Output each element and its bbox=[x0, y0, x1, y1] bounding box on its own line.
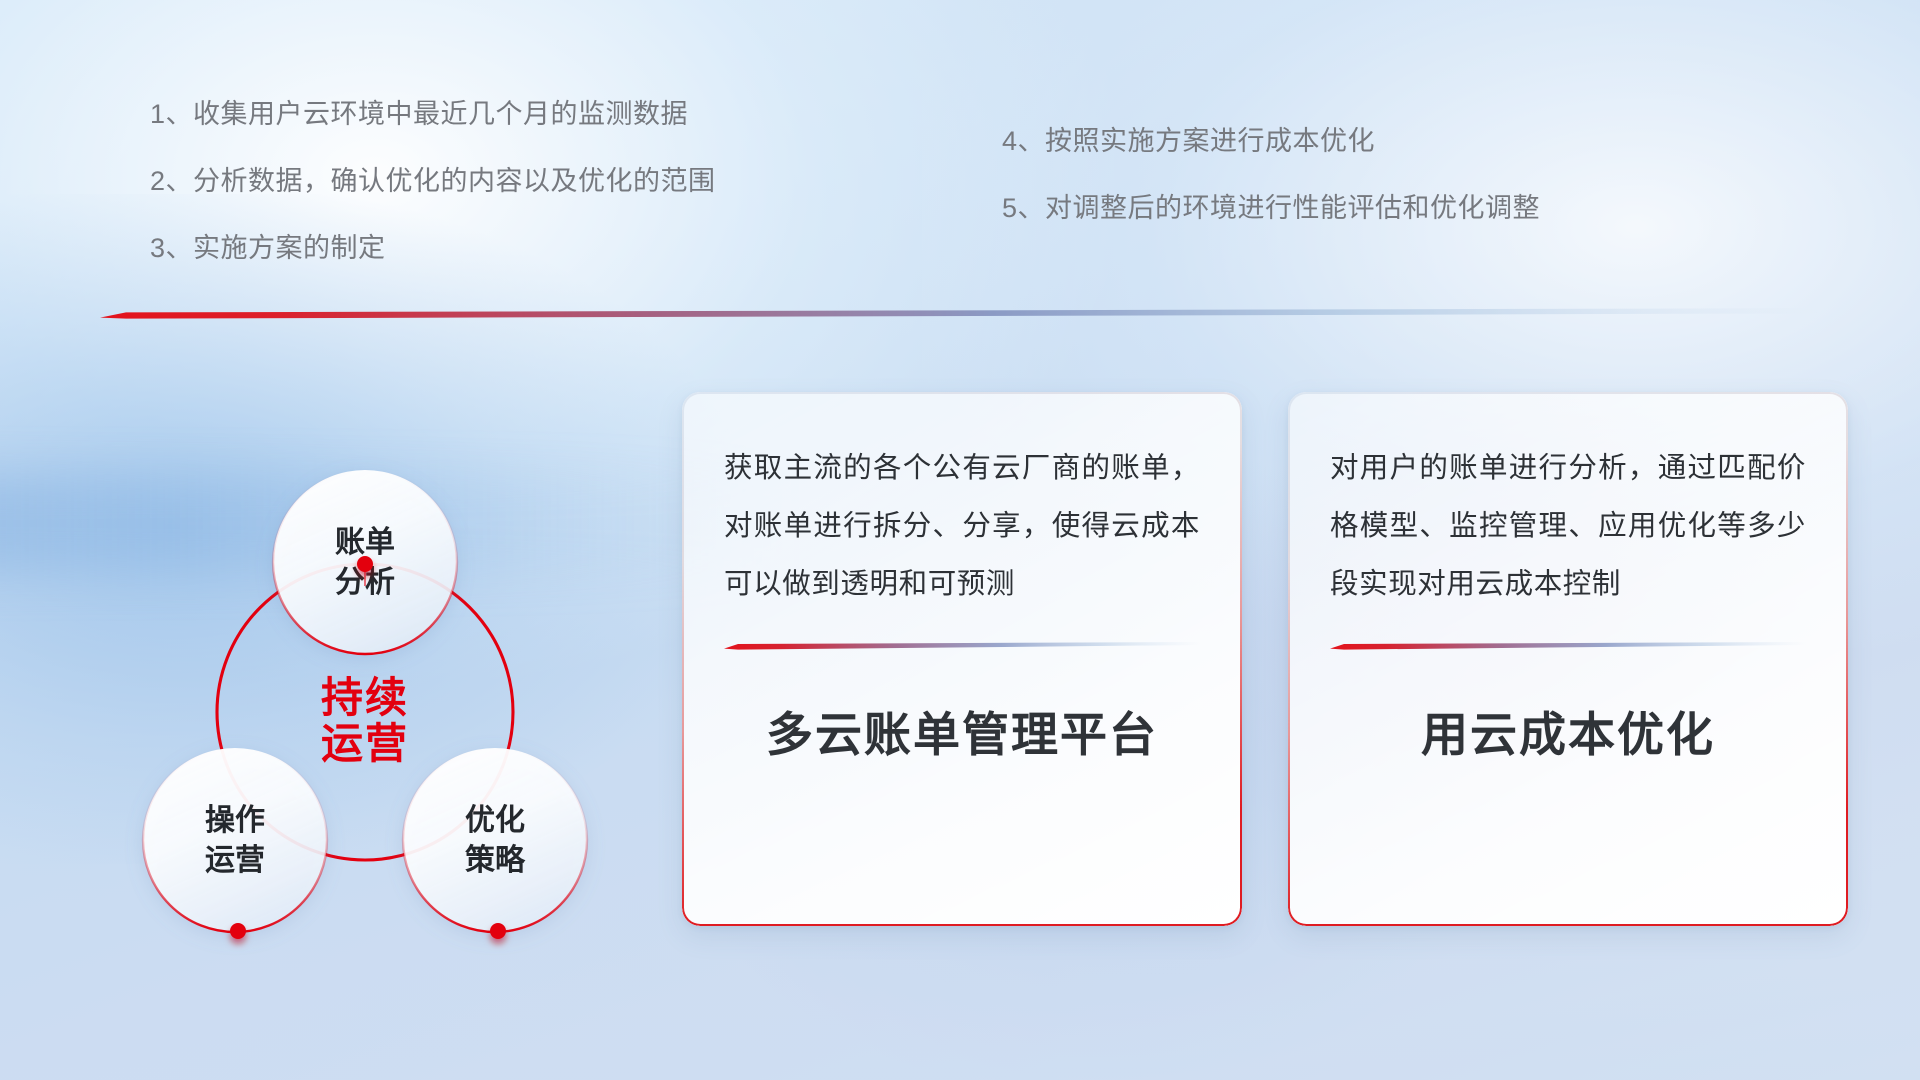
continuous-operations-diagram: 账单 分析 操作 运营 优化 策略 持续 运营 bbox=[70, 340, 660, 960]
node-anchor-dot bbox=[490, 923, 506, 939]
card-body-text: 对用户的账单进行分析，通过匹配价格模型、监控管理、应用优化等多少段实现对用云成本… bbox=[1330, 440, 1806, 614]
card-body-text: 获取主流的各个公有云厂商的账单，对账单进行拆分、分享，使得云成本可以做到透明和可… bbox=[724, 440, 1200, 614]
node-anchor-dot bbox=[357, 556, 373, 572]
node-label-line1: 操作 bbox=[205, 804, 265, 837]
process-step-3: 3、实施方案的制定 bbox=[150, 235, 716, 262]
process-step-2: 2、分析数据，确认优化的内容以及优化的范围 bbox=[150, 168, 716, 195]
process-step-5: 5、对调整后的环境进行性能评估和优化调整 bbox=[1002, 195, 1540, 222]
process-step-1: 1、收集用户云环境中最近几个月的监测数据 bbox=[150, 101, 716, 128]
diagram-node-bill-analysis: 账单 分析 bbox=[273, 470, 457, 654]
section-divider bbox=[100, 304, 1818, 322]
diagram-node-optimization: 优化 策略 bbox=[403, 748, 587, 939]
feature-card-multi-cloud-billing[interactable]: 获取主流的各个公有云厂商的账单，对账单进行拆分、分享，使得云成本可以做到透明和可… bbox=[682, 392, 1242, 926]
center-label-line2: 运营 bbox=[321, 720, 409, 767]
node-label-line2: 策略 bbox=[465, 843, 526, 877]
process-steps-right-column: 4、按照实施方案进行成本优化 5、对调整后的环境进行性能评估和优化调整 bbox=[1002, 128, 1540, 262]
card-gradient-rule bbox=[1330, 640, 1806, 650]
node-label-line2: 运营 bbox=[205, 844, 265, 877]
card-gradient-rule bbox=[724, 640, 1200, 650]
node-label-line1: 账单 bbox=[335, 526, 395, 559]
node-label-line1: 优化 bbox=[465, 804, 525, 837]
card-title: 用云成本优化 bbox=[1330, 696, 1806, 765]
node-anchor-dot bbox=[230, 923, 246, 939]
feature-card-cloud-cost-optimization[interactable]: 对用户的账单进行分析，通过匹配价格模型、监控管理、应用优化等多少段实现对用云成本… bbox=[1288, 392, 1848, 926]
slide-canvas: 1、收集用户云环境中最近几个月的监测数据 2、分析数据，确认优化的内容以及优化的… bbox=[0, 0, 1920, 1080]
card-title: 多云账单管理平台 bbox=[724, 696, 1200, 765]
process-step-4: 4、按照实施方案进行成本优化 bbox=[1002, 128, 1540, 155]
diagram-node-operations: 操作 运营 bbox=[143, 748, 327, 939]
process-steps-left-column: 1、收集用户云环境中最近几个月的监测数据 2、分析数据，确认优化的内容以及优化的… bbox=[150, 101, 716, 302]
center-label-line1: 持续 bbox=[321, 674, 409, 721]
